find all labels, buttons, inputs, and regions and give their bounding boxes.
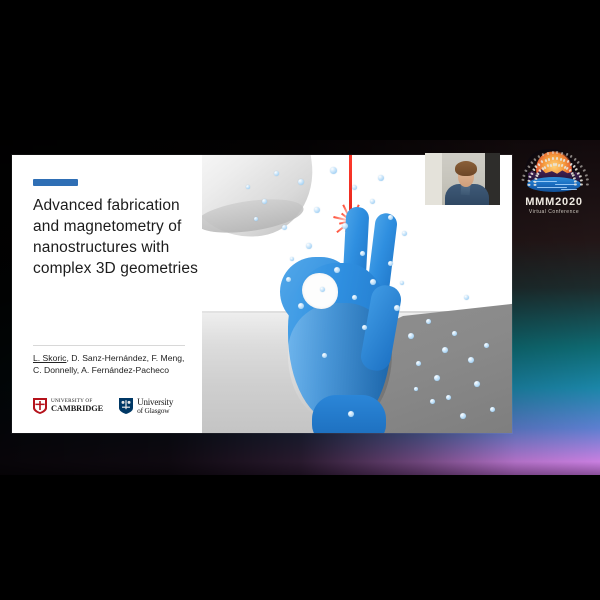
- figure-particle: [460, 413, 466, 419]
- slide-text-panel: Advanced fabrication and magnetometry of…: [12, 155, 202, 433]
- figure-particle: [452, 331, 457, 336]
- figure-particle: [434, 375, 440, 381]
- figure-particle: [426, 319, 431, 324]
- logo-water-line: [561, 189, 577, 190]
- slide-authors: L. Skoric, D. Sanz-Hernández, F. Meng, C…: [33, 353, 191, 376]
- webcam-wall-left: [425, 153, 442, 205]
- letterbox-top: [0, 0, 600, 140]
- logo-ray-tick: [549, 163, 552, 167]
- glasgow-line2: of Glasgow: [137, 407, 173, 414]
- figure-particle: [394, 305, 400, 311]
- conference-logo: MMM2020 Virtual Conference: [517, 143, 591, 225]
- figure-particle: [370, 279, 376, 285]
- figure-particle: [352, 295, 357, 300]
- figure-particle: [342, 223, 348, 229]
- figure-particle: [388, 261, 393, 266]
- figure-particle: [484, 343, 489, 348]
- slide-divider: [33, 345, 185, 346]
- logo-ray-tick: [585, 178, 589, 181]
- figure-particle: [254, 217, 258, 221]
- figure-particle: [286, 277, 291, 282]
- slide-title: Advanced fabrication and magnetometry of…: [33, 195, 205, 279]
- cambridge-line2: CAMBRIDGE: [51, 405, 103, 413]
- figure-particle: [314, 207, 320, 213]
- figure-particle: [402, 231, 407, 236]
- figure-particle: [348, 411, 354, 417]
- cambridge-logo: UNIVERSITY OF CAMBRIDGE: [33, 398, 103, 414]
- logo-ray-tick: [586, 184, 589, 186]
- figure-hand: [260, 207, 430, 433]
- figure-particle: [442, 347, 448, 353]
- figure-particle: [446, 395, 451, 400]
- figure-particle: [468, 357, 474, 363]
- figure-particle: [352, 185, 357, 190]
- figure-particle: [430, 399, 435, 404]
- figure-particle: [246, 185, 250, 189]
- figure-particle: [362, 325, 367, 330]
- conference-logo-title: MMM2020: [517, 196, 591, 208]
- figure-particle: [330, 167, 337, 174]
- figure-particle: [490, 407, 495, 412]
- figure-particle: [408, 333, 414, 339]
- logo-ray-tick: [584, 174, 588, 177]
- figure-particle: [360, 251, 365, 256]
- conference-logo-subtitle: Virtual Conference: [517, 209, 591, 215]
- figure-particle: [298, 303, 304, 309]
- presenter-webcam[interactable]: [425, 153, 500, 205]
- figure-particle: [306, 243, 312, 249]
- figure-particle: [388, 215, 393, 220]
- webcam-presenter-hair: [455, 161, 477, 176]
- cambridge-shield-icon: [33, 398, 47, 414]
- figure-particle: [378, 175, 384, 181]
- presentation-viewport: Advanced fabrication and magnetometry of…: [0, 0, 600, 600]
- figure-particle: [282, 225, 287, 230]
- slide-accent-bar: [33, 179, 78, 186]
- letterbox-bottom: [0, 475, 600, 600]
- figure-particle: [320, 287, 325, 292]
- slide-institution-logos: UNIVERSITY OF CAMBRIDGE: [33, 398, 173, 414]
- figure-particle: [474, 381, 480, 387]
- figure-particle: [290, 257, 294, 261]
- logo-water-line: [555, 184, 575, 185]
- figure-particle: [262, 199, 267, 204]
- cambridge-logo-text: UNIVERSITY OF CAMBRIDGE: [51, 399, 103, 413]
- glasgow-shield-icon: [119, 398, 133, 414]
- figure-particle: [322, 353, 327, 358]
- conference-logo-artwork: [517, 143, 591, 195]
- glasgow-logo: University of Glasgow: [119, 398, 173, 414]
- figure-particle: [334, 267, 340, 273]
- figure-particle: [370, 199, 375, 204]
- figure-particle: [414, 387, 418, 391]
- figure-particle: [298, 179, 304, 185]
- figure-particle: [464, 295, 469, 300]
- author-presenter: L. Skoric: [33, 353, 66, 363]
- figure-particle: [274, 171, 279, 176]
- figure-particle: [416, 361, 421, 366]
- glasgow-logo-text: University of Glasgow: [137, 398, 173, 414]
- figure-particle: [400, 281, 404, 285]
